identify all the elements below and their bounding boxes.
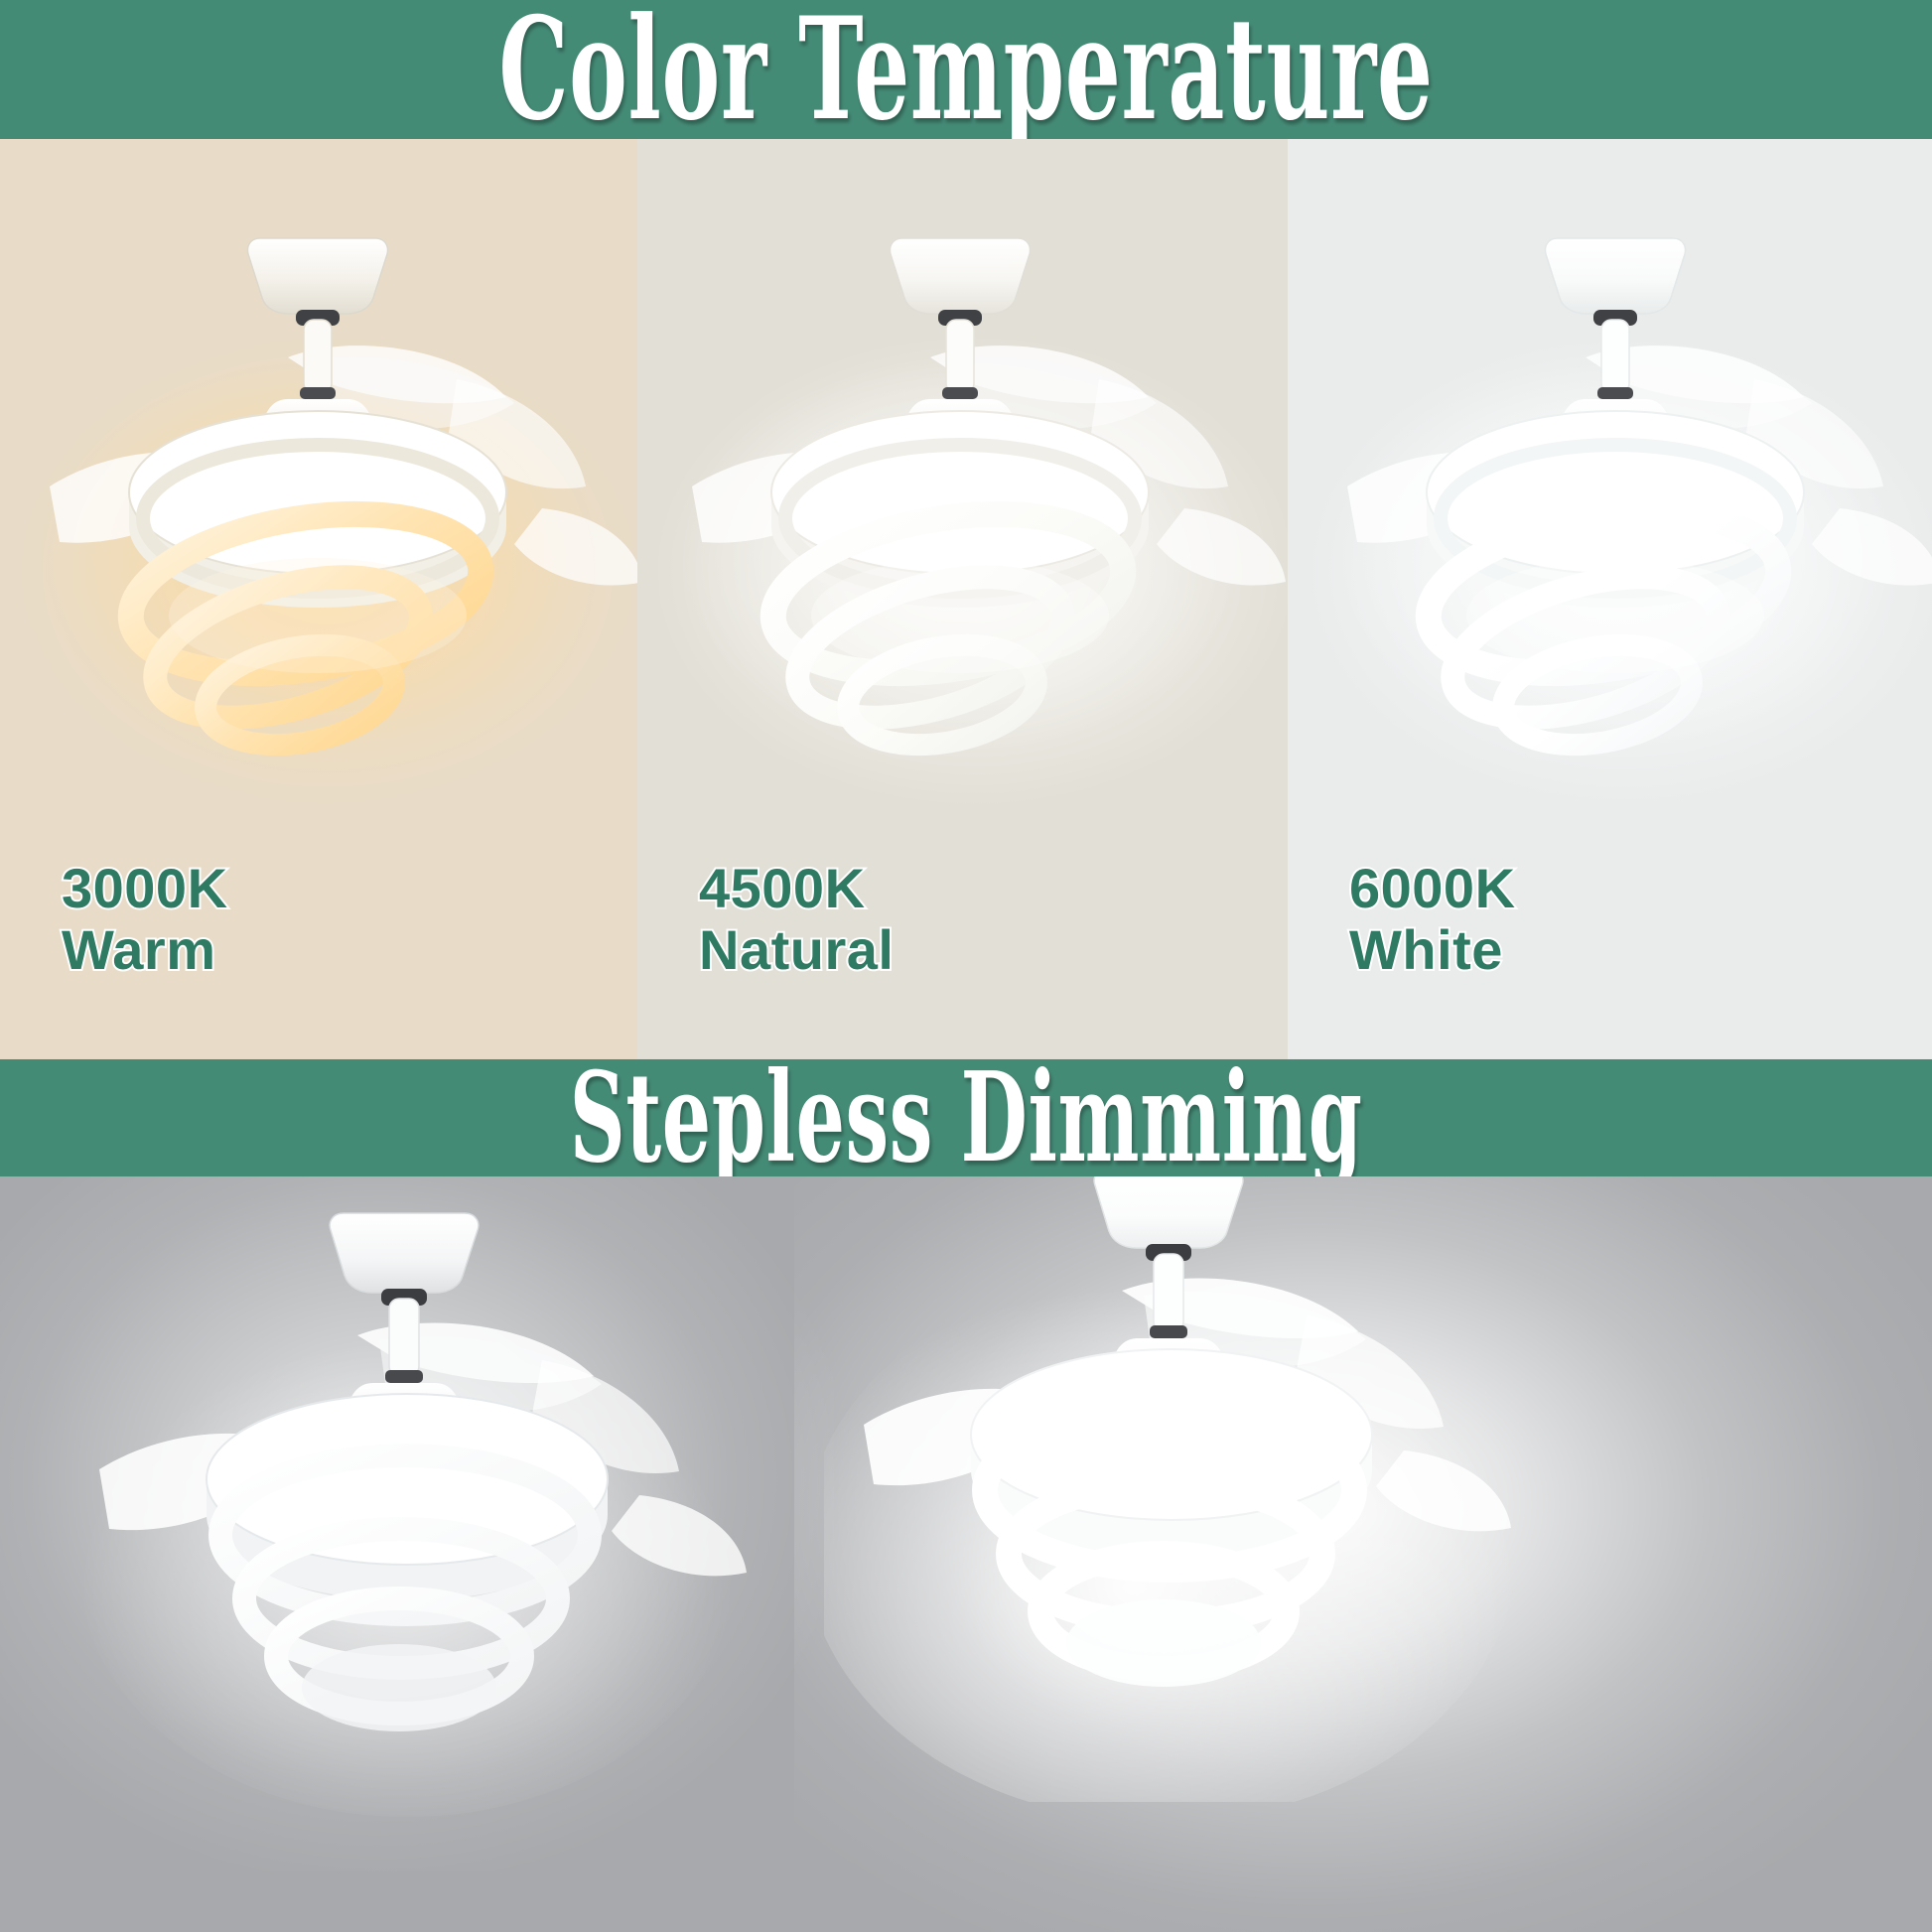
color-temperature-section: 3000K Warm: [0, 139, 1932, 1059]
banner-color-temperature-title: Color Temperature: [498, 0, 1433, 140]
color-temperature-panel-warm: 3000K Warm: [0, 139, 637, 1059]
ceiling-fan-icon: [1288, 199, 1932, 834]
kelvin-name: White: [1349, 919, 1516, 982]
ceiling-fan-icon: [824, 1176, 1519, 1802]
color-temperature-panel-natural: 4500K Natural: [637, 139, 1288, 1059]
ceiling-fan-icon: [60, 1176, 755, 1847]
color-temperature-panel-white: 6000K White: [1288, 139, 1932, 1059]
kelvin-value: 6000K: [1349, 858, 1516, 920]
color-temperature-label-natural: 4500K Natural: [699, 858, 894, 982]
ceiling-fan-icon: [637, 199, 1288, 834]
color-temperature-label-white: 6000K White: [1349, 858, 1516, 982]
kelvin-name: Natural: [699, 919, 894, 982]
ceiling-fan-icon: [0, 199, 637, 834]
kelvin-name: Warm: [62, 919, 228, 982]
color-temperature-label-warm: 3000K Warm: [62, 858, 228, 982]
kelvin-value: 3000K: [62, 858, 228, 920]
infographic-page: Color Temperature: [0, 0, 1932, 1932]
banner-color-temperature: Color Temperature: [0, 0, 1932, 139]
banner-stepless-dimming-title: Stepless Dimming: [570, 1056, 1363, 1180]
stepless-dimming-section: 10%: [0, 1176, 1932, 1932]
kelvin-value: 4500K: [699, 858, 894, 920]
banner-stepless-dimming: Stepless Dimming: [0, 1059, 1932, 1176]
